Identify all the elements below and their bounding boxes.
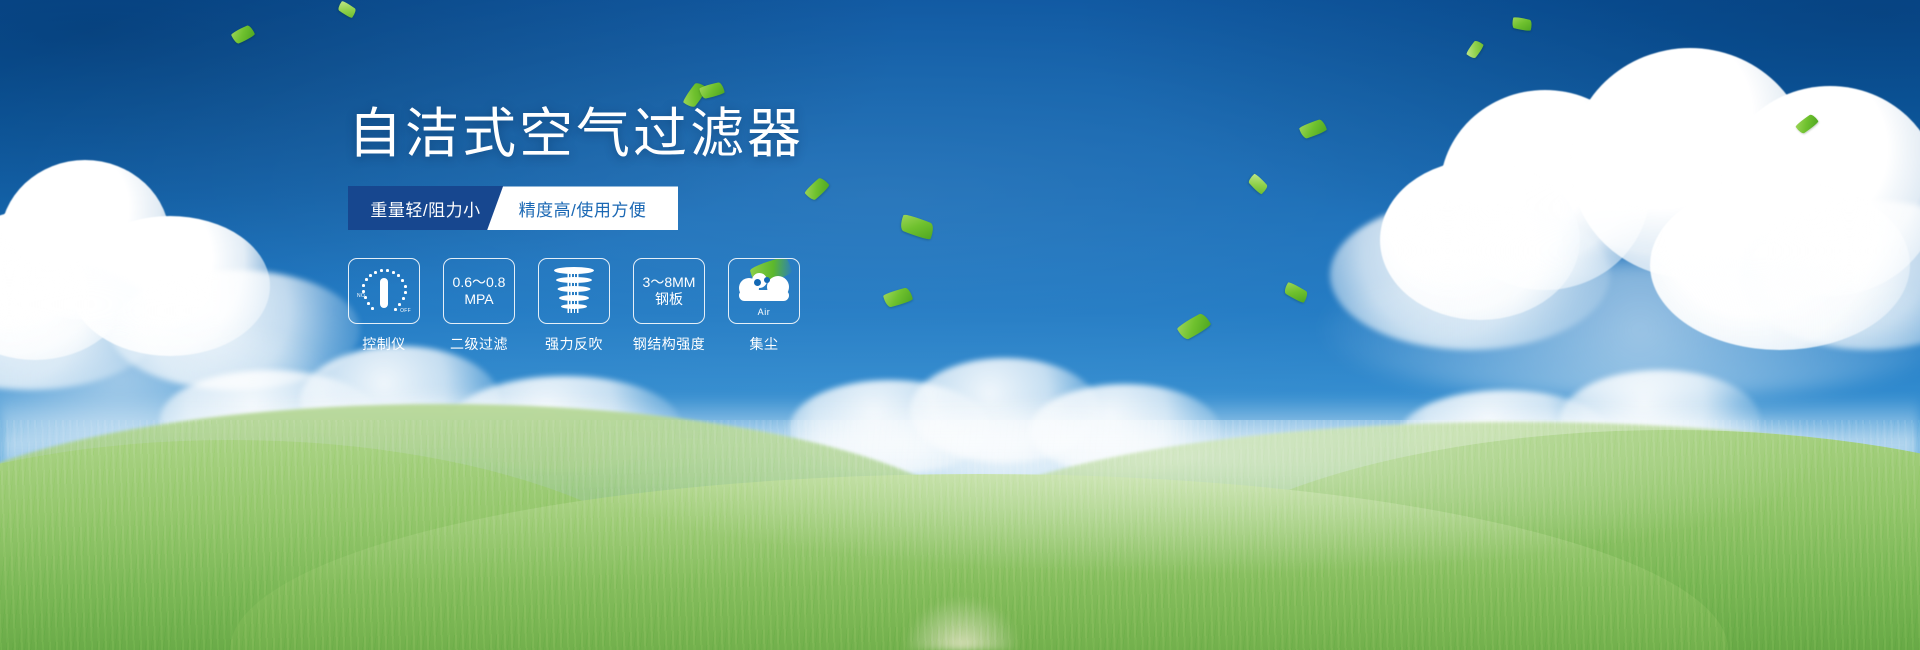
feature-controller-box: NO OFF: [348, 258, 420, 324]
feature-filtration: 0.6～0.8 MPA 二级过滤: [443, 258, 515, 354]
hero-content: 自洁式空气过滤器 重量轻/阻力小 精度高/使用方便: [348, 104, 968, 354]
gauge-label-off: OFF: [400, 308, 411, 314]
feature-backblow: 强力反吹: [538, 258, 610, 354]
coil-icon: [552, 266, 596, 316]
cloud-air-icon: Air: [737, 268, 791, 314]
tag-weight-resistance: 重量轻/阻力小: [348, 186, 503, 230]
feature-controller: NO OFF 控制仪: [348, 258, 420, 354]
feature-tag-bar: 重量轻/阻力小 精度高/使用方便: [348, 186, 678, 230]
product-hero-banner: 自洁式空气过滤器 重量轻/阻力小 精度高/使用方便: [0, 0, 1920, 650]
feature-filtration-box: 0.6～0.8 MPA: [443, 258, 515, 324]
feature-backblow-box: [538, 258, 610, 324]
feature-caption: 集尘: [750, 334, 779, 354]
feature-dust-collection: Air 集尘: [728, 258, 800, 354]
feature-steel-strength: 3～8MM 钢板 钢结构强度: [633, 258, 705, 354]
feature-caption: 强力反吹: [545, 334, 603, 354]
pressure-value: 0.6～0.8 MPA: [453, 274, 506, 308]
grass-field: [0, 350, 1920, 650]
cloud-right: [1320, 30, 1920, 360]
grass-highlight: [0, 420, 1920, 610]
feature-caption: 控制仪: [362, 334, 406, 354]
air-label: Air: [737, 307, 791, 317]
page-title: 自洁式空气过滤器: [348, 104, 968, 164]
feature-caption: 二级过滤: [450, 334, 508, 354]
plate-thickness-value: 3～8MM 钢板: [643, 274, 696, 308]
feature-steel-box: 3～8MM 钢板: [633, 258, 705, 324]
gauge-label-no: NO: [357, 293, 365, 299]
feature-caption: 钢结构强度: [633, 334, 706, 354]
feature-icon-row: NO OFF 控制仪 0.6～0.8 MPA 二级过滤: [348, 258, 968, 354]
feature-dust-box: Air: [728, 258, 800, 324]
tag-precision-ease: 精度高/使用方便: [487, 186, 678, 230]
gauge-icon: NO OFF: [358, 266, 410, 316]
